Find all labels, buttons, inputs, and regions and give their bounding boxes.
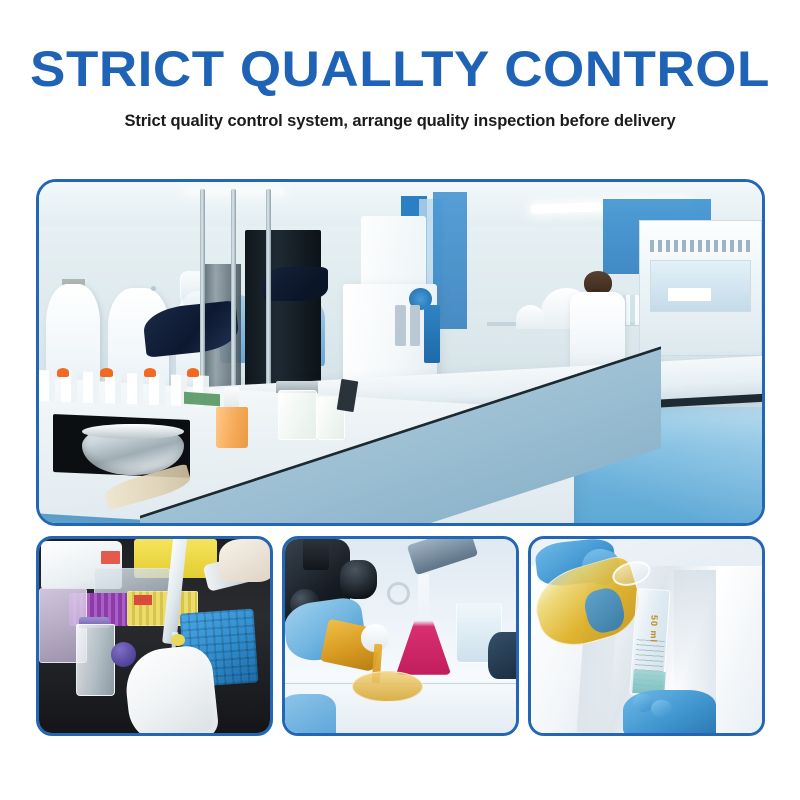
laboratory-overview-photo <box>39 182 762 523</box>
pipetting-photo <box>39 539 270 733</box>
blue-gloved-hand <box>285 694 336 733</box>
cylinder-volume-label: 50 ml <box>648 615 659 643</box>
petri-dish <box>352 671 423 702</box>
support-pole <box>200 189 205 407</box>
bottle-cap <box>57 368 69 377</box>
retort-clamp-icon <box>387 582 410 605</box>
thumbnail-2-frame[interactable] <box>282 536 519 736</box>
instrument-slot <box>410 305 420 346</box>
purple-screw-cap <box>111 642 136 667</box>
fume-hood-equipment <box>668 288 711 302</box>
fume-hood-sash <box>650 260 751 311</box>
support-pole <box>266 189 271 407</box>
funnel-icon <box>516 305 545 329</box>
thumbnail-3-frame[interactable]: 50 ml <box>528 536 765 736</box>
sample-pouring-photo <box>285 539 516 733</box>
microscope-eyepiece <box>303 539 328 570</box>
page-subtitle: Strict quality control system, arrange q… <box>0 94 800 131</box>
support-pole <box>231 189 236 407</box>
yellow-pipette-tip <box>171 634 185 646</box>
heading-block: STRICT QUALLTY CONTROL Strict quality co… <box>0 44 800 131</box>
gloved-hand <box>219 539 270 582</box>
glass-sample-vial <box>76 624 115 696</box>
quality-control-banner: STRICT QUALLTY CONTROL Strict quality co… <box>0 0 800 800</box>
graduated-cylinder-photo: 50 ml <box>531 539 762 733</box>
instrument-control-panel <box>424 305 440 363</box>
analyzer-tower <box>361 216 426 291</box>
bottle-cap <box>100 368 112 377</box>
rack-label <box>134 595 152 605</box>
microscope-objective <box>340 560 377 599</box>
jug-label <box>101 551 119 565</box>
bottle-cap <box>144 368 156 377</box>
orange-soap-bottle <box>216 407 248 448</box>
page-title: STRICT QUALLTY CONTROL <box>0 44 800 94</box>
hero-photo-frame[interactable] <box>36 179 765 526</box>
glass-jar <box>278 390 318 440</box>
instrument-slot <box>395 305 405 346</box>
bottle-cap <box>187 368 199 377</box>
dark-cover-cloth <box>263 267 328 301</box>
dark-glassware <box>488 632 516 679</box>
thumbnail-1-frame[interactable] <box>36 536 273 736</box>
fume-hood-vent <box>650 240 751 252</box>
